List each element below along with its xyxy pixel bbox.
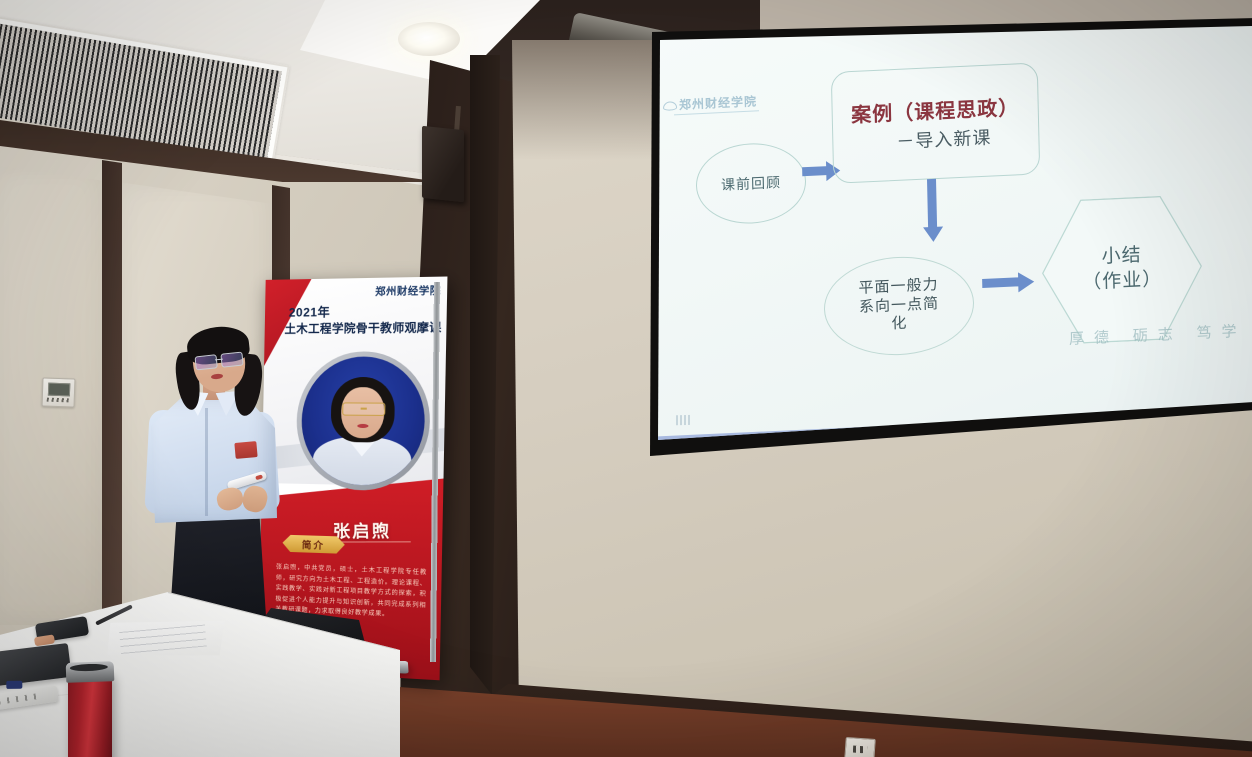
thermos-bottle [68, 672, 112, 757]
speaker-icon [422, 126, 464, 202]
arrow-shaft [802, 166, 828, 176]
flow-node-case-study-sublabel: －导入新课 [896, 123, 992, 153]
arrow-head [1018, 272, 1034, 293]
arrow-shaft [982, 277, 1020, 288]
flow-node-review: 课前回顾 [695, 141, 807, 226]
flow-node-force-system-line2: 系向一点简 [859, 295, 939, 317]
flow-node-review-label: 课前回顾 [721, 172, 781, 195]
projector-screen: 郑州财经学院 课前回顾 案例（课程思政） －导入新课 [644, 26, 1252, 440]
thermostat-panel[interactable] [42, 377, 76, 407]
presenter-shirt-placket [205, 408, 208, 516]
banner-year: 2021年 [289, 303, 331, 321]
banner-title: 土木工程学院骨干教师观摩课 [284, 319, 441, 337]
slide-corner-mark [676, 415, 692, 425]
flow-node-summary-line1: 小结 [1101, 244, 1142, 271]
banner-presenter-name: 张启煦 [333, 516, 392, 542]
wall-divider-1 [102, 160, 122, 632]
flow-node-force-system-line3: 化 [891, 315, 907, 334]
presenter-pocket-badge [234, 441, 257, 459]
power-outlet-icon[interactable] [844, 737, 876, 757]
arrow-shaft [927, 179, 937, 229]
glasses-lens-right [220, 352, 243, 368]
banner-logo-text: 郑州财经学院 [375, 282, 441, 299]
banner-section-label: 简介 [302, 537, 325, 552]
flow-node-case-study: 案例（课程思政） －导入新课 [831, 62, 1040, 183]
classroom-scene: 郑州财经学院 课前回顾 案例（课程思政） －导入新课 [0, 0, 1252, 757]
slide: 郑州财经学院 课前回顾 案例（课程思政） －导入新课 [644, 26, 1252, 440]
flow-node-case-study-label: 案例（课程思政） [851, 91, 1020, 128]
avatar-glasses-icon [342, 403, 385, 417]
banner-photo-ring [295, 351, 431, 491]
avatar-mouth [357, 423, 368, 427]
ceiling-light-icon [398, 22, 460, 56]
thermos-cap [66, 661, 115, 683]
flow-node-force-system: 平面一般力 系向一点简 化 [823, 254, 975, 359]
flow-node-summary-line2: （作业） [1082, 268, 1163, 296]
arrow-head [923, 226, 943, 242]
avatar [301, 356, 426, 486]
glasses-lens-left [195, 354, 218, 370]
